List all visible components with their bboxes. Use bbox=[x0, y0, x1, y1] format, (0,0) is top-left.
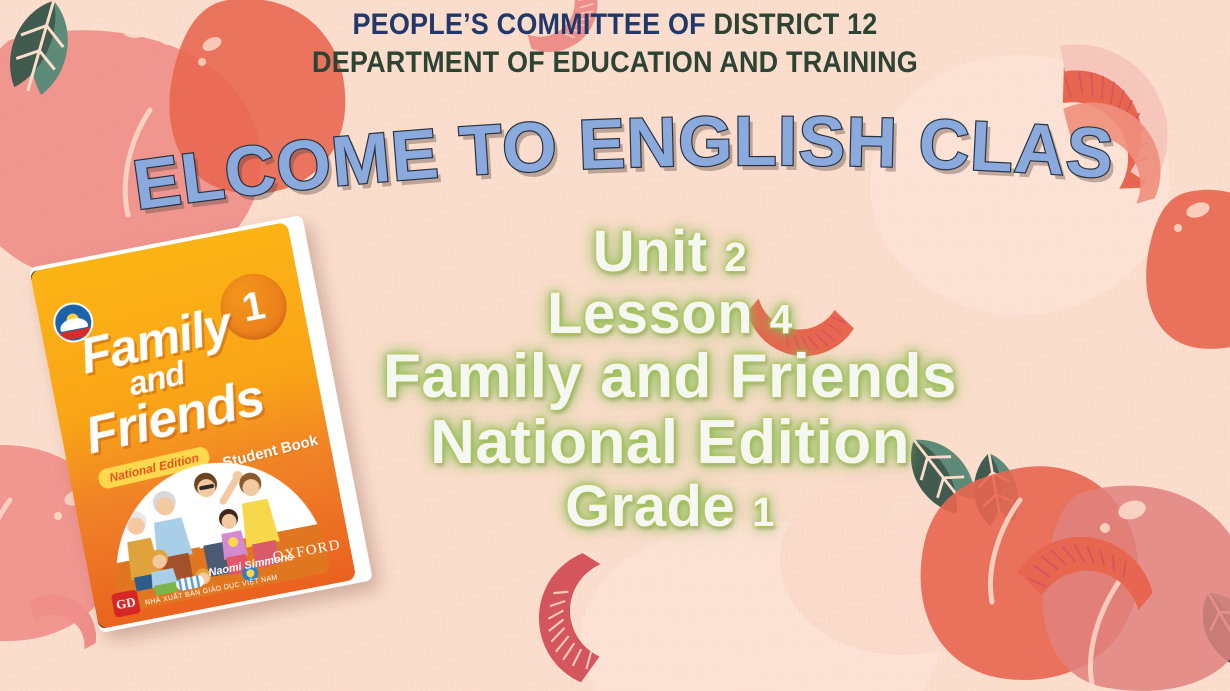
header-line-1-part2: DISTRICT 12 bbox=[713, 8, 877, 41]
slide-root: PEOPLE’S COMMITTEE OF DISTRICT 12 DEPART… bbox=[0, 0, 1230, 691]
grade-line: Grade 1 bbox=[370, 477, 970, 537]
lesson-label: Lesson bbox=[547, 281, 753, 346]
unit-label: Unit bbox=[593, 219, 708, 284]
header-line-2: DEPARTMENT OF EDUCATION AND TRAINING bbox=[62, 44, 1169, 82]
edition-line: National Edition bbox=[370, 411, 970, 475]
header-line-1-part1: PEOPLE’S COMMITTEE OF bbox=[352, 8, 713, 41]
unit-number: 2 bbox=[724, 234, 747, 280]
lesson-info: Unit 2 Lesson 4 Family and Friends Natio… bbox=[370, 222, 970, 539]
grade-label: Grade bbox=[565, 474, 735, 539]
header: PEOPLE’S COMMITTEE OF DISTRICT 12 DEPART… bbox=[0, 6, 1230, 83]
lesson-line: Lesson 4 bbox=[370, 284, 970, 344]
lesson-number: 4 bbox=[770, 296, 793, 342]
unit-line: Unit 2 bbox=[370, 222, 970, 282]
header-line-1: PEOPLE’S COMMITTEE OF DISTRICT 12 bbox=[62, 6, 1169, 44]
book-title-line: Family and Friends bbox=[370, 345, 970, 409]
gd-publisher-logo-icon: GD bbox=[111, 589, 141, 618]
grade-number: 1 bbox=[752, 489, 775, 535]
